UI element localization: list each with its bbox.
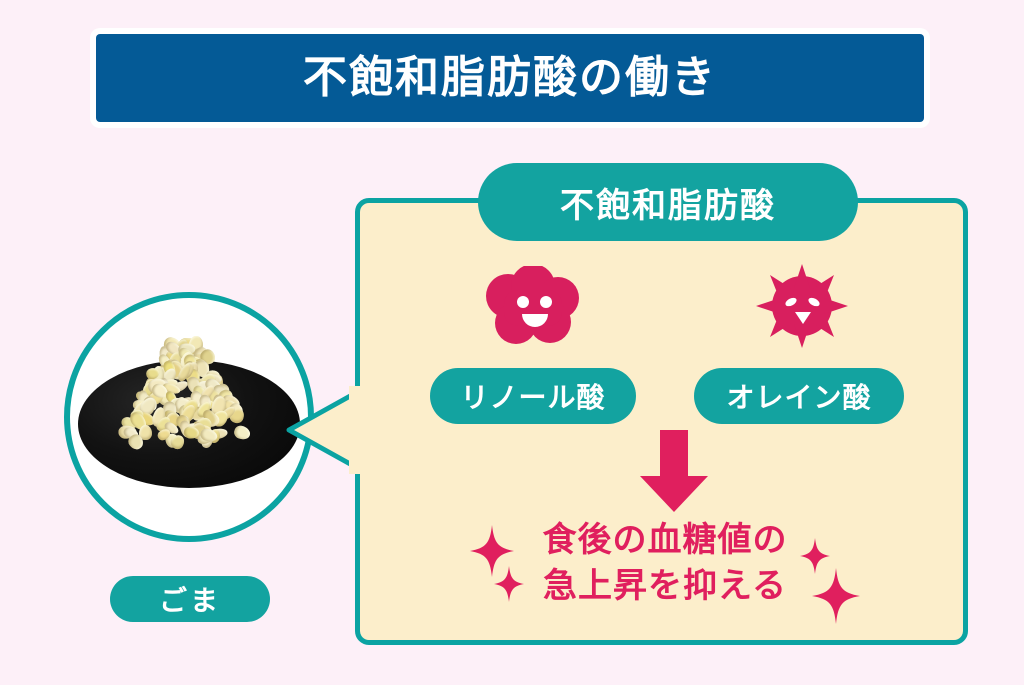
spiky-star-character-icon [752, 262, 852, 350]
callout-tail-icon [283, 386, 363, 474]
acid-label-oleic: オレイン酸 [726, 376, 871, 416]
page-title: 不飽和脂肪酸の働き [303, 56, 717, 100]
flower-blob-character-icon [478, 266, 588, 346]
conclusion-text: 食後の血糖値の 急上昇を抑える [500, 518, 830, 610]
conclusion-line-2: 急上昇を抑える [500, 564, 830, 610]
infographic-canvas: 不飽和脂肪酸の働き 不飽和脂肪酸 [0, 0, 1024, 685]
title-banner: 不飽和脂肪酸の働き [90, 28, 930, 128]
sparkle-icon [812, 568, 860, 624]
sparkle-icon [494, 566, 524, 602]
title-banner-inner: 不飽和脂肪酸の働き [96, 34, 924, 122]
panel-header-label: 不飽和脂肪酸 [560, 178, 776, 227]
sesame-seed-pile [120, 338, 250, 458]
panel-header-pill: 不飽和脂肪酸 [478, 163, 858, 241]
conclusion-line-1: 食後の血糖値の [500, 518, 830, 564]
sesame-photo-circle [64, 292, 314, 542]
acid-pill-linoleic: リノール酸 [430, 368, 636, 424]
food-label-pill: ごま [110, 576, 270, 622]
acid-label-linoleic: リノール酸 [460, 376, 605, 416]
food-label: ごま [159, 579, 221, 619]
acid-pill-oleic: オレイン酸 [694, 368, 904, 424]
arrow-down-icon [638, 430, 710, 512]
